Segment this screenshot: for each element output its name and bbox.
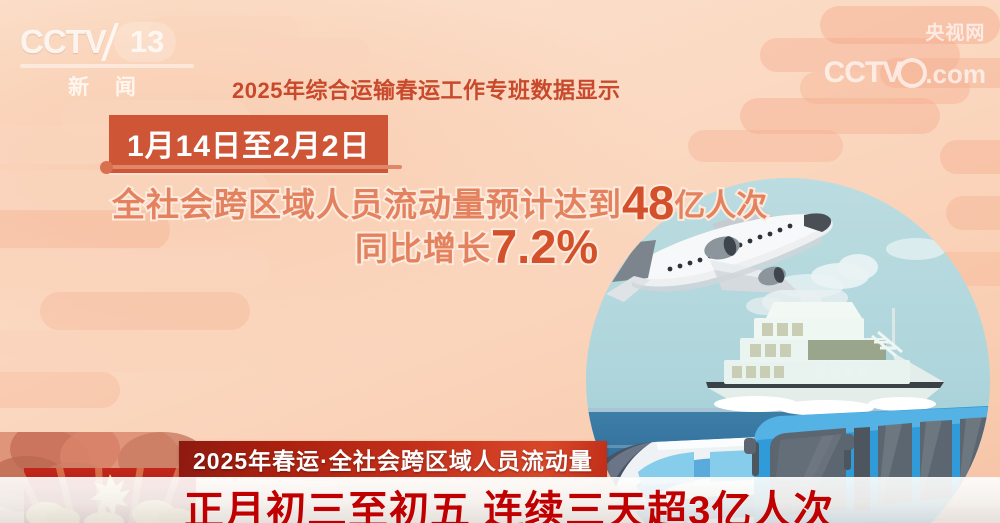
stat-1-unit: 亿人次: [674, 180, 767, 225]
cctv-logo-text: CCTV: [20, 23, 106, 61]
lower-third-kicker-bar: 2025年春运·全社会跨区域人员流动量: [179, 441, 607, 477]
stat-2-unit: %: [556, 219, 598, 274]
stat-2-label: 同比增长: [355, 222, 491, 270]
cctvcom-chinese-text: 央视网: [925, 18, 985, 45]
broadcast-graphic: CCTV 13 新 闻 CCTV 央视网 .com 2025年综合运输春运工作专…: [0, 0, 1000, 523]
channel-subtitle: 新 闻: [20, 71, 194, 101]
stat-1-value: 48: [622, 175, 674, 230]
cruise-ship-icon: [696, 290, 956, 415]
data-source-line: 2025年综合运输春运工作专班数据显示: [232, 73, 620, 105]
cctvcom-domain-text: .com: [925, 59, 986, 90]
date-range-text: 1月14日至2月2日: [127, 130, 370, 163]
stat-2-value: 7.2: [491, 219, 556, 274]
stat-line-2: 同比增长 7.2 %: [355, 216, 598, 271]
cctvcom-main-text: CCTV: [824, 56, 902, 90]
cctv-com-watermark: CCTV 央视网 .com: [824, 18, 986, 90]
lower-third-headline-text: 正月初三至初五 连续三天超3亿人次: [184, 478, 834, 523]
cctv13-channel-logo: CCTV 13 新 闻: [20, 22, 225, 94]
headline-divider: [109, 165, 402, 169]
logo-underline: [20, 64, 194, 68]
lower-third-kicker-text: 2025年春运·全社会跨区域人员流动量: [193, 442, 593, 476]
